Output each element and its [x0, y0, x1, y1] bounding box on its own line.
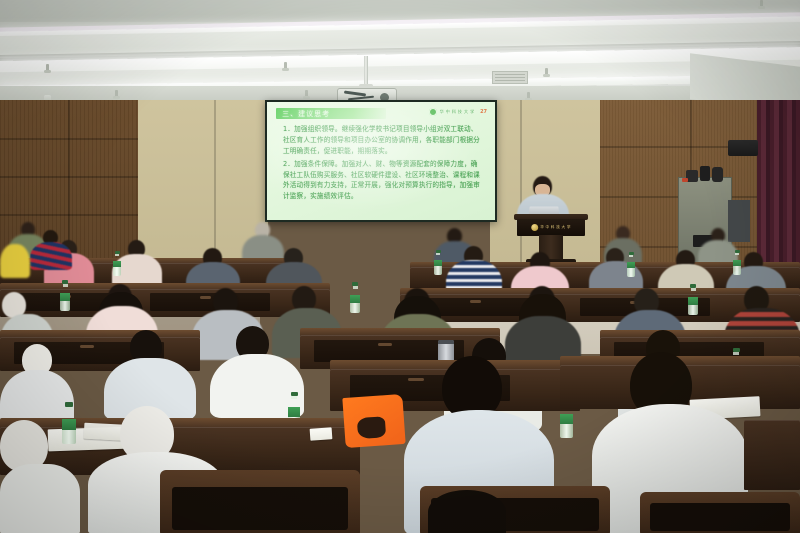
wall-seam [0, 176, 140, 178]
orange-tote-bag [342, 394, 405, 448]
handout-paper [310, 427, 333, 441]
slide-page-number: 27 [480, 109, 487, 115]
podium-badge-text: 华 中 科 技 大 学 [540, 225, 571, 230]
desk-handle [470, 300, 481, 303]
projector-mount-pole [364, 56, 368, 86]
wall-seam [0, 214, 140, 216]
slide-logo-text: 华 中 科 技 大 学 [440, 109, 475, 115]
rack-equipment-item [712, 167, 723, 182]
foreground-attendee-head [428, 490, 506, 533]
chair-back [160, 470, 360, 533]
desk-edge-right [744, 420, 800, 490]
projection-screen: 三、建议思考 华 中 科 技 大 学 27 1．加强组织领导。继续强化学校书记项… [265, 100, 497, 222]
rack-indicator-light [682, 178, 688, 182]
desk-handle [200, 296, 211, 299]
slide-header-text: 三、建议思考 [276, 108, 385, 120]
slide-paragraph: 1．加强组织领导。继续强化学校书记项目领导小组对双工联动、社区育人工作的领导和项… [283, 124, 481, 156]
sprinkler-icon [305, 90, 308, 98]
desk-handle [378, 343, 392, 346]
chair-back [640, 492, 800, 533]
sprinkler-icon [115, 90, 118, 98]
sprinkler-icon [545, 68, 548, 76]
wall-seam [0, 138, 140, 140]
water-bottle [627, 252, 635, 272]
desk-handle [408, 378, 424, 381]
desk-handle [80, 345, 94, 348]
foreground-attendee-body [0, 464, 80, 533]
water-bottle [113, 251, 121, 271]
rack-equipment-item [700, 166, 710, 181]
podium-front-panel: 华 中 科 技 大 学 [517, 219, 585, 236]
air-vent-icon [492, 71, 528, 84]
slide-paragraph: 2．加强条件保障。加强对人、财、物等资源配套的保障力度，确保社工队伍购买服务、社… [283, 159, 481, 201]
water-bottle [62, 402, 76, 436]
sprinkler-icon [527, 92, 530, 100]
water-bottle [60, 280, 70, 305]
sprinkler-icon [46, 64, 49, 72]
water-bottle [733, 250, 741, 270]
presentation-slide: 三、建议思考 华 中 科 技 大 学 27 1．加强组织领导。继续强化学校书记项… [267, 102, 495, 220]
lecture-hall-photo: 三、建议思考 华 中 科 技 大 学 27 1．加强组织领导。继续强化学校书记项… [0, 0, 800, 533]
attendee-body-yellow [0, 244, 30, 278]
wall-speaker-icon [728, 140, 758, 156]
slide-logo: 华 中 科 技 大 学 [429, 108, 475, 116]
water-bottle [688, 284, 698, 309]
university-seal-icon [429, 108, 437, 116]
podium-badge: 华 中 科 技 大 学 [531, 224, 571, 231]
slide-header-bar: 三、建议思考 [276, 108, 385, 119]
sprinkler-icon [284, 62, 287, 70]
rack-side-speaker [728, 200, 750, 242]
university-seal-icon [531, 224, 538, 231]
water-bottle [350, 282, 360, 307]
slide-body: 1．加强组织领导。继续强化学校书记项目领导小组对双工联动、社区育人工作的领导和项… [283, 124, 481, 204]
sprinkler-icon [760, 0, 763, 8]
water-bottle [434, 250, 442, 270]
attendee-body-striped [30, 242, 72, 270]
desk-row-2 [0, 289, 330, 317]
projector-cable [344, 90, 366, 96]
